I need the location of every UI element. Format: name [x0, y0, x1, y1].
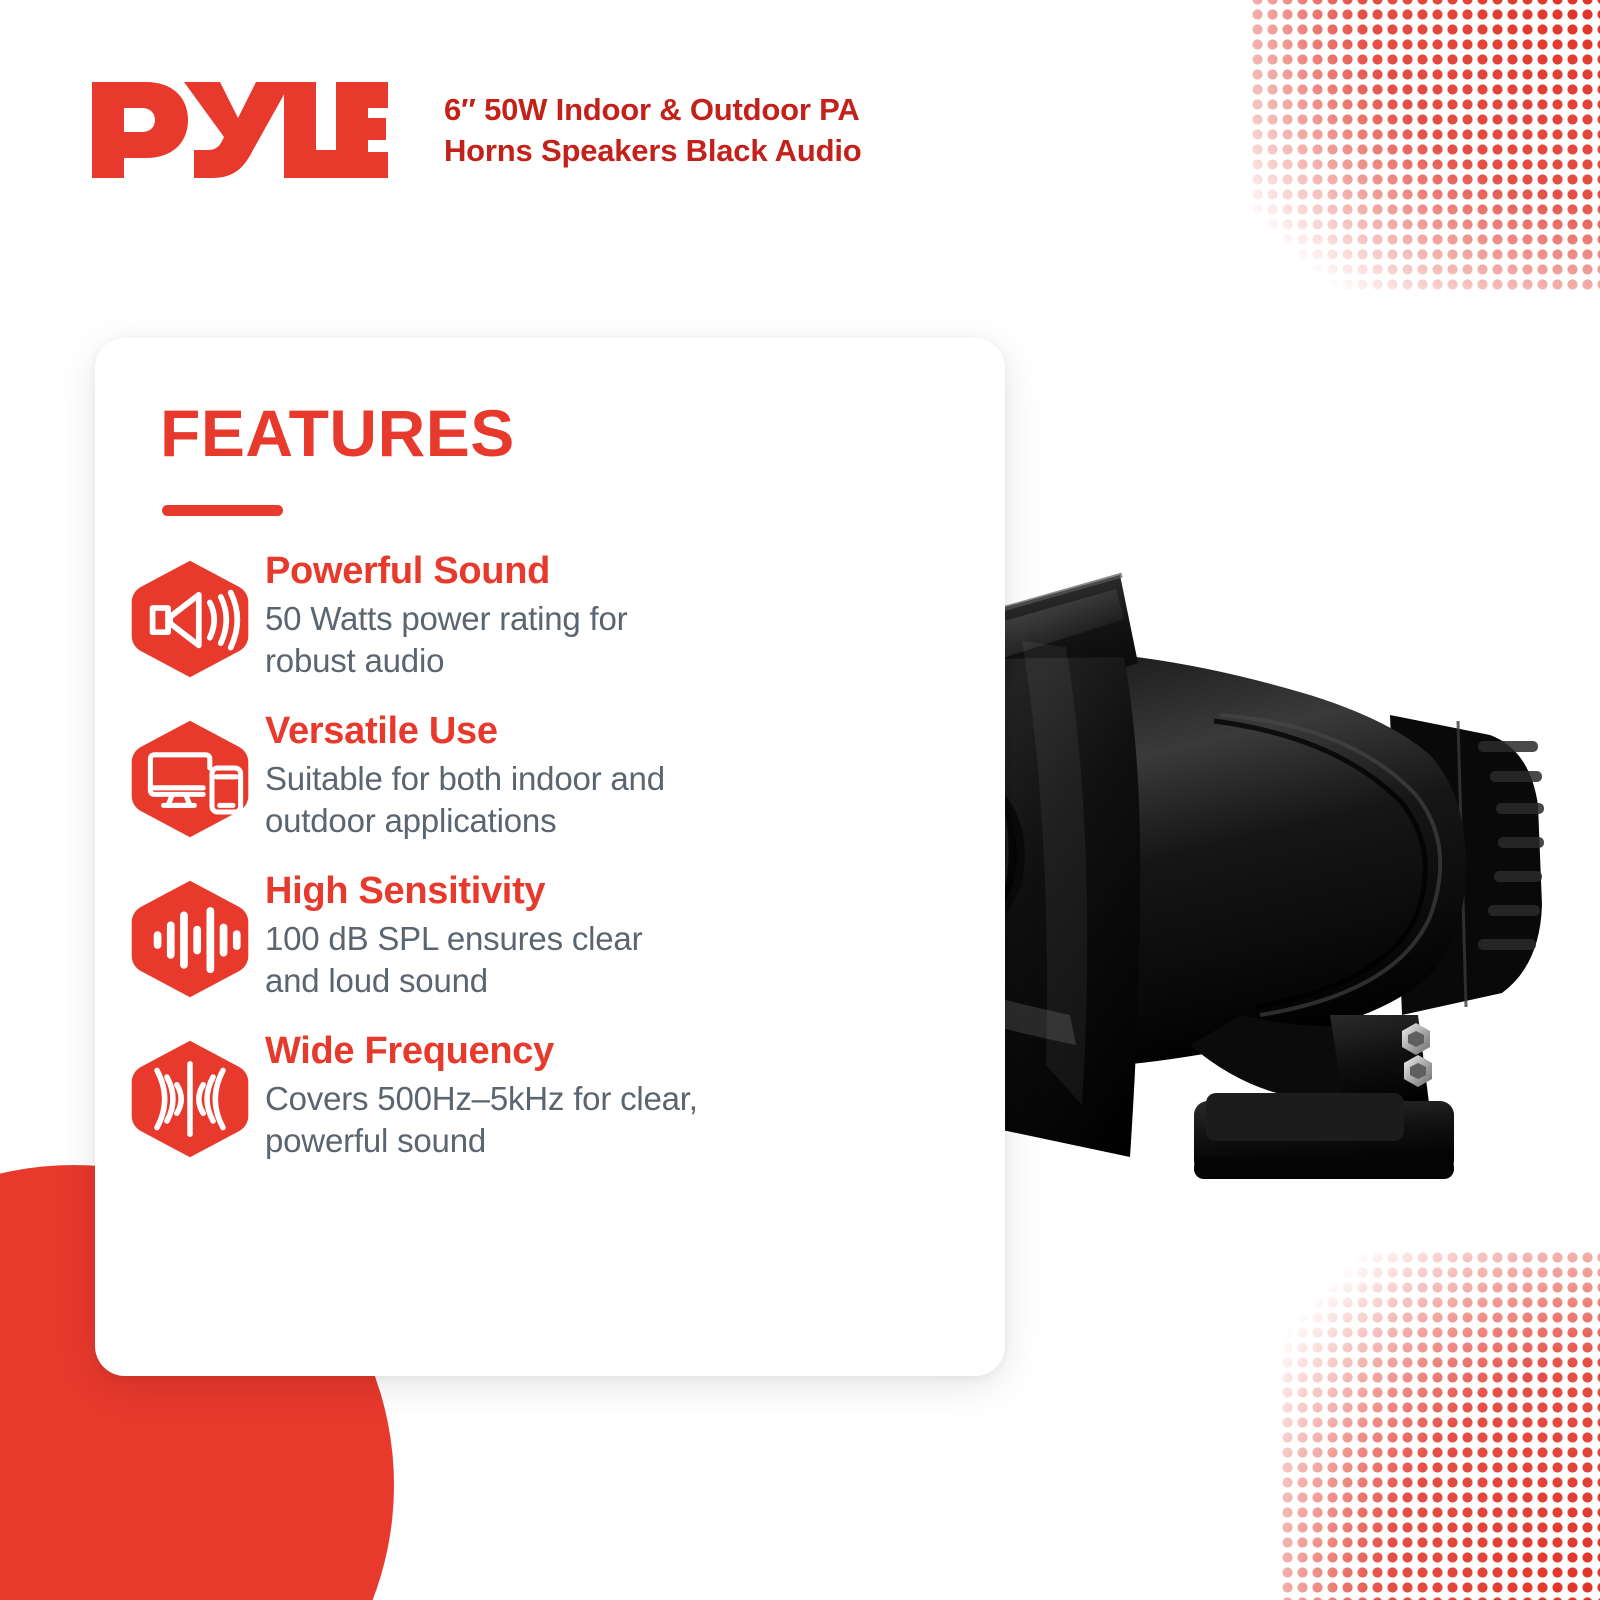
feature-text-block: Versatile Use Suitable for both indoor a…: [265, 703, 985, 842]
feature-title: High Sensitivity: [265, 869, 965, 914]
feature-title: Versatile Use: [265, 709, 965, 754]
feature-icon-container: [115, 1023, 265, 1165]
audio-waveform-bars-icon: [124, 873, 256, 1005]
feature-item-wide-frequency: Wide Frequency Covers 500Hz–5kHz for cle…: [115, 1023, 985, 1165]
feature-title: Wide Frequency: [265, 1029, 965, 1074]
feature-text-block: Powerful Sound 50 Watts power rating for…: [265, 543, 985, 682]
frequency-signal-waves-icon: [124, 1033, 256, 1165]
feature-item-powerful-sound: Powerful Sound 50 Watts power rating for…: [115, 543, 985, 685]
feature-description: 50 Watts power rating for robust audio: [265, 598, 705, 682]
halftone-dots-top-right: [1250, 0, 1600, 292]
features-heading: FEATURES: [160, 400, 515, 466]
feature-icon-container: [115, 703, 265, 845]
feature-list: Powerful Sound 50 Watts power rating for…: [115, 543, 985, 1183]
feature-description: 100 dB SPL ensures clear and loud sound: [265, 918, 705, 1002]
heading-divider: [162, 505, 283, 516]
feature-text-block: High Sensitivity 100 dB SPL ensures clea…: [265, 863, 985, 1002]
feature-text-block: Wide Frequency Covers 500Hz–5kHz for cle…: [265, 1023, 985, 1162]
feature-item-high-sensitivity: High Sensitivity 100 dB SPL ensures clea…: [115, 863, 985, 1005]
monitor-smartphone-devices-icon: [124, 713, 256, 845]
feature-icon-container: [115, 543, 265, 685]
header: 6″ 50W Indoor & Outdoor PA Horns Speaker…: [88, 78, 861, 182]
product-title: 6″ 50W Indoor & Outdoor PA Horns Speaker…: [444, 89, 861, 171]
feature-icon-container: [115, 863, 265, 1005]
halftone-dots-bottom-right: [1280, 1250, 1600, 1600]
speaker-sound-waves-icon: [124, 553, 256, 685]
feature-title: Powerful Sound: [265, 549, 965, 594]
pyle-logo: [88, 78, 388, 182]
feature-description: Suitable for both indoor and outdoor app…: [265, 758, 705, 842]
features-card: FEATURES: [95, 338, 1005, 1376]
product-infographic-page: 6″ 50W Indoor & Outdoor PA Horns Speaker…: [0, 0, 1600, 1600]
speaker-mounting-bracket: [1190, 1015, 1454, 1179]
feature-description: Covers 500Hz–5kHz for clear, powerful so…: [265, 1078, 705, 1162]
feature-item-versatile-use: Versatile Use Suitable for both indoor a…: [115, 703, 985, 845]
